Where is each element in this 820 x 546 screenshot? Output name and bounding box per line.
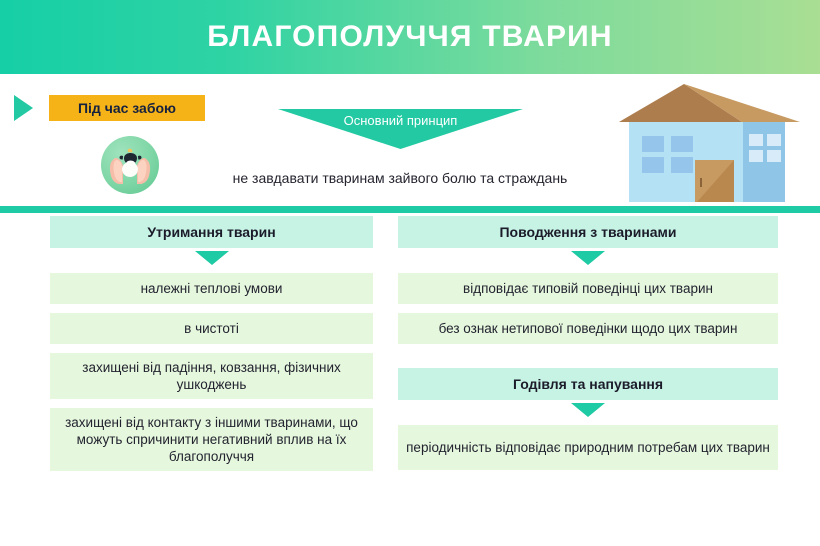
stage-badge: Під час забою [49,95,205,121]
triangle-down-icon [571,251,605,265]
header-banner: БЛАГОПОЛУЧЧЯ ТВАРИН [0,0,820,74]
principle-label: Основний принцип [278,113,523,128]
list-item: захищені від контакту з іншими тваринами… [50,408,373,471]
list-item: періодичність відповідає природним потре… [398,425,778,470]
page-title: БЛАГОПОЛУЧЧЯ ТВАРИН [0,20,820,54]
section-heading-housing: Утримання тварин [50,216,373,248]
list-item: в чистоті [50,313,373,344]
list-item: захищені від падіння, ковзання, фізичних… [50,353,373,399]
list-item: належні теплові умови [50,273,373,304]
right-column: Поводження з тваринами відповідає типові… [398,216,778,470]
list-item: без ознак нетипової поведінки щодо цих т… [398,313,778,344]
arrow-down-feeding [398,400,778,425]
list-item: відповідає типовій поведінці цих тварин [398,273,778,304]
footer: EU4SaferFood [0,486,820,546]
triangle-down-icon [195,251,229,265]
play-arrow-icon [14,95,33,121]
section-heading-feeding: Годівля та напування [398,368,778,400]
principle-text: не завдавати тваринам зайвого болю та ст… [150,170,650,186]
arrow-down-handling [398,248,778,273]
infographic-page: БЛАГОПОЛУЧЧЯ ТВАРИН Під час забою [0,0,820,546]
section-divider [0,206,820,213]
barn-house-illustration [614,84,810,202]
triangle-down-icon [571,403,605,417]
left-column: Утримання тварин належні теплові умови в… [50,216,373,471]
section-heading-handling: Поводження з тваринами [398,216,778,248]
barn-svg [614,84,810,202]
arrow-down-housing [50,248,373,273]
